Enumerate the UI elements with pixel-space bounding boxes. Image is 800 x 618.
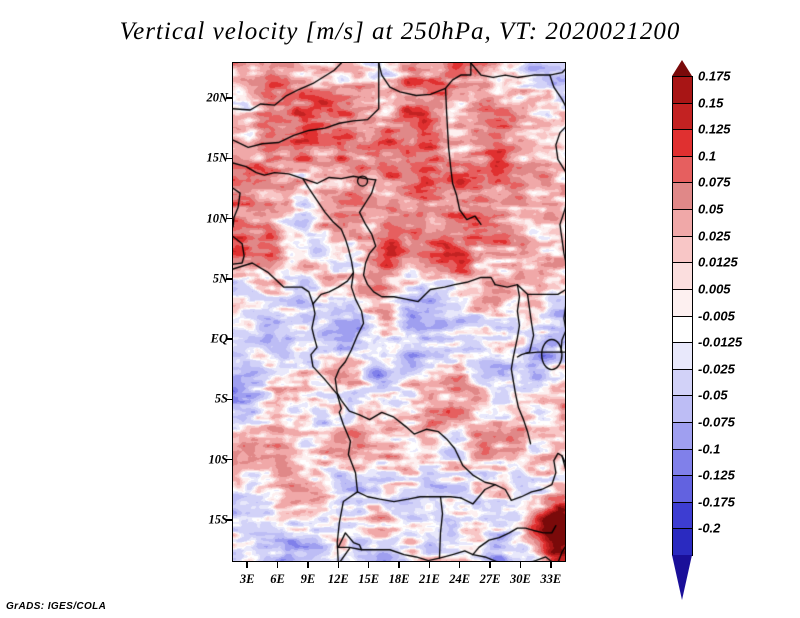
x-axis-tick: [277, 562, 279, 568]
colorbar-extend-min-arrow: [672, 555, 692, 600]
x-axis-tick: [489, 562, 491, 568]
colorbar-tick-label: -0.025: [698, 361, 735, 376]
page-title: Vertical velocity [m/s] at 250hPa, VT: 2…: [0, 18, 800, 46]
colorbar-band: [672, 528, 693, 556]
y-axis-tick-label: 15S: [196, 512, 228, 527]
colorbar-tick-label: -0.2: [698, 521, 720, 536]
colorbar-band: [672, 209, 693, 237]
y-axis-tick-label: 15N: [196, 151, 228, 166]
x-axis-tick: [368, 562, 370, 568]
x-axis-tick: [459, 562, 461, 568]
colorbar-tick-label: 0.025: [698, 228, 731, 243]
y-axis-tick-label: EQ: [196, 332, 228, 347]
y-axis-tick: [226, 158, 232, 160]
colorbar-band: [672, 262, 693, 290]
x-axis-tick: [398, 562, 400, 568]
grads-plot-page: Vertical velocity [m/s] at 250hPa, VT: 2…: [0, 0, 800, 618]
colorbar-band: [672, 129, 693, 157]
y-axis-tick-label: 5S: [196, 392, 228, 407]
x-axis-tick: [520, 562, 522, 568]
colorbar-tick-label: -0.0125: [698, 335, 742, 350]
colorbar-band: [672, 316, 693, 344]
colorbar-band: [672, 76, 693, 104]
colorbar-tick-label: -0.005: [698, 308, 735, 323]
y-axis-tick: [226, 399, 232, 401]
x-axis-tick: [338, 562, 340, 568]
y-axis-tick: [226, 338, 232, 340]
colorbar-tick-label: -0.1: [698, 441, 720, 456]
colorbar-band: [672, 369, 693, 397]
colorbar-extend-max-arrow: [672, 60, 692, 76]
x-axis-tick: [429, 562, 431, 568]
x-axis-tick: [246, 562, 248, 568]
colorbar: 0.1750.150.1250.10.0750.050.0250.01250.0…: [672, 60, 694, 560]
colorbar-tick-label: 0.15: [698, 95, 723, 110]
y-axis-tick-label: 10S: [196, 452, 228, 467]
colorbar-band: [672, 236, 693, 264]
colorbar-band: [672, 289, 693, 317]
y-axis-tick: [226, 97, 232, 99]
y-axis-tick: [226, 459, 232, 461]
map-plot-area: [232, 62, 566, 562]
y-axis-tick-label: 20N: [196, 91, 228, 106]
y-axis-tick: [226, 278, 232, 280]
colorbar-tick-label: 0.075: [698, 175, 731, 190]
colorbar-tick-label: 0.0125: [698, 255, 738, 270]
colorbar-band: [672, 502, 693, 530]
x-axis-tick: [550, 562, 552, 568]
y-axis-tick: [226, 519, 232, 521]
colorbar-tick-label: 0.05: [698, 202, 723, 217]
y-axis-tick: [226, 218, 232, 220]
colorbar-band: [672, 182, 693, 210]
colorbar-band: [672, 422, 693, 450]
footer-credit: GrADS: IGES/COLA: [6, 601, 106, 612]
colorbar-tick-label: -0.075: [698, 414, 735, 429]
x-axis-tick: [307, 562, 309, 568]
colorbar-tick-label: 0.175: [698, 69, 731, 84]
country-borders-overlay: [233, 63, 566, 562]
colorbar-band: [672, 395, 693, 423]
colorbar-tick-label: -0.05: [698, 388, 728, 403]
x-axis-tick-label: 33E: [531, 572, 571, 587]
colorbar-tick-label: -0.175: [698, 494, 735, 509]
colorbar-tick-label: 0.1: [698, 148, 716, 163]
colorbar-band: [672, 449, 693, 477]
colorbar-band: [672, 103, 693, 131]
y-axis-tick-label: 5N: [196, 271, 228, 286]
colorbar-band: [672, 156, 693, 184]
colorbar-band: [672, 342, 693, 370]
colorbar-tick-label: -0.125: [698, 468, 735, 483]
colorbar-band: [672, 475, 693, 503]
colorbar-tick-label: 0.005: [698, 281, 731, 296]
colorbar-tick-label: 0.125: [698, 122, 731, 137]
y-axis-tick-label: 10N: [196, 211, 228, 226]
